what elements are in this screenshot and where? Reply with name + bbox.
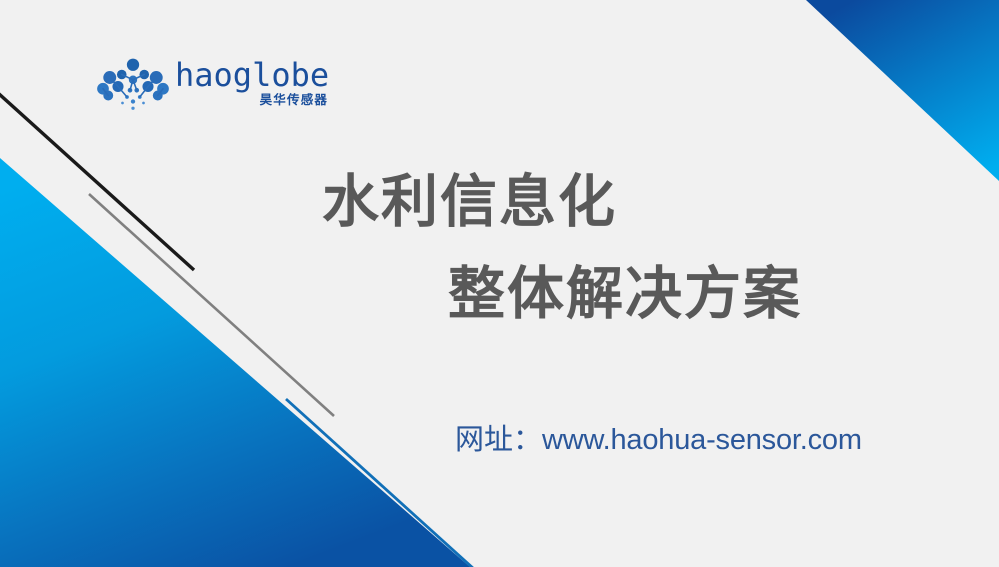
website-line: 网址：www.haohua-sensor.com: [455, 421, 862, 458]
black-accent-line: [0, 93, 194, 270]
brand-logo-text: haoglobe 昊华传感器: [175, 58, 329, 107]
brand-subtitle-cn: 昊华传感器: [260, 92, 329, 107]
page-title-line-1: 水利信息化: [322, 171, 617, 233]
brand-wordmark: haoglobe: [175, 60, 329, 90]
website-url[interactable]: www.haohua-sensor.com: [542, 424, 862, 456]
title-slide: haoglobe 昊华传感器 水利信息化 整体解决方案 网址：www.haohu…: [0, 0, 999, 567]
brand-logo: haoglobe 昊华传感器: [97, 58, 312, 116]
right-gradient-triangle: [806, 0, 999, 181]
page-title-line-2: 整体解决方案: [448, 263, 802, 325]
website-label: 网址：: [455, 422, 542, 456]
blue-accent-line: [286, 399, 474, 567]
network-nodes-logo-icon: [97, 58, 169, 112]
gray-accent-line: [89, 194, 334, 416]
